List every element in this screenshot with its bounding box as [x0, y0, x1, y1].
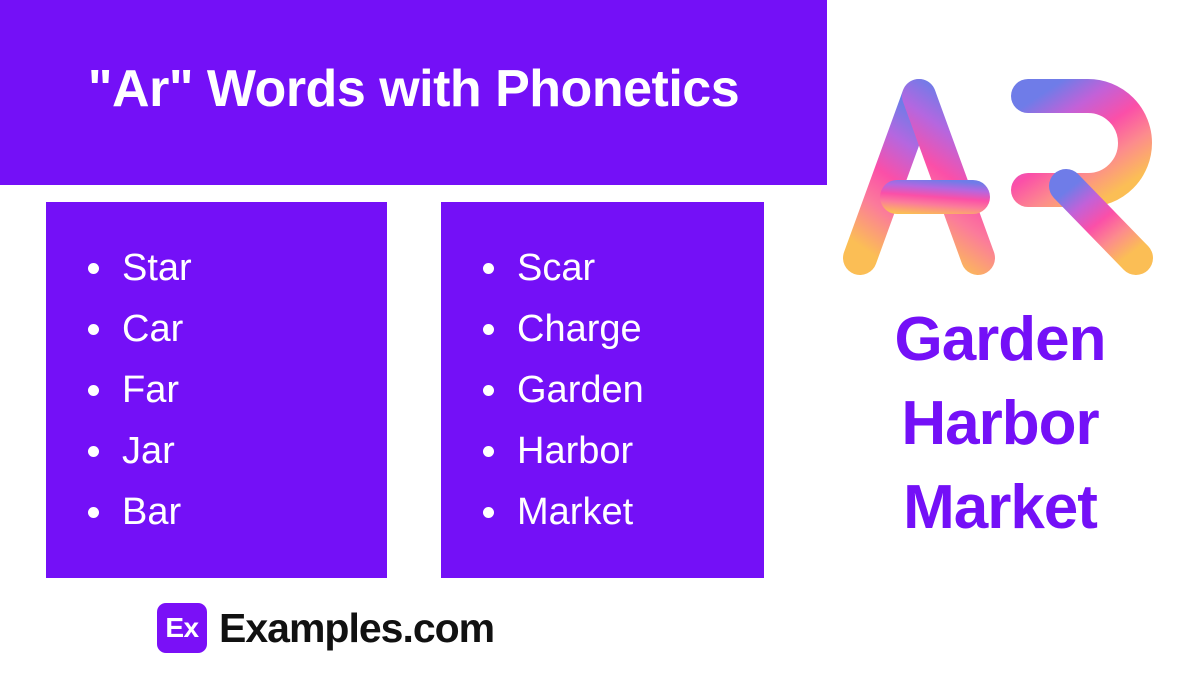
- highlight-word-list: Garden Harbor Market: [820, 298, 1180, 550]
- list-item: Scar: [483, 238, 764, 299]
- word-label: Jar: [122, 432, 175, 470]
- list-item: Market: [483, 482, 764, 543]
- list-item: Jar: [88, 421, 387, 482]
- brand-mark-label: Ex: [165, 614, 198, 642]
- word-list-box-one: Star Car Far Jar Bar: [46, 202, 387, 578]
- bullet-icon: [88, 507, 99, 518]
- list-item: Harbor: [483, 421, 764, 482]
- list-item: Bar: [88, 482, 387, 543]
- bullet-icon: [88, 324, 99, 335]
- bullet-icon: [483, 507, 494, 518]
- bullet-icon: [88, 446, 99, 457]
- highlight-word: Garden: [820, 298, 1180, 382]
- slide-canvas: "Ar" Words with Phonetics Star Car Far J…: [0, 0, 1200, 675]
- bullet-icon: [88, 263, 99, 274]
- word-label: Far: [122, 371, 179, 409]
- logo-letter-a-crossbar: [880, 180, 990, 214]
- header-banner: "Ar" Words with Phonetics: [0, 0, 827, 185]
- list-item: Charge: [483, 299, 764, 360]
- page-title: "Ar" Words with Phonetics: [88, 61, 739, 117]
- word-label: Star: [122, 249, 192, 287]
- bullet-icon: [483, 324, 494, 335]
- word-label: Scar: [517, 249, 595, 287]
- examples-mark-icon: Ex: [157, 603, 207, 653]
- logo-letter-r: [1028, 96, 1136, 258]
- word-label: Car: [122, 310, 183, 348]
- list-item: Star: [88, 238, 387, 299]
- highlight-word: Harbor: [820, 382, 1180, 466]
- bullet-icon: [483, 446, 494, 457]
- bullet-icon: [483, 263, 494, 274]
- highlight-word: Market: [820, 466, 1180, 550]
- word-label: Garden: [517, 371, 644, 409]
- word-label: Charge: [517, 310, 642, 348]
- list-item: Far: [88, 360, 387, 421]
- word-label: Market: [517, 493, 633, 531]
- bullet-icon: [88, 385, 99, 396]
- word-label: Harbor: [517, 432, 633, 470]
- word-label: Bar: [122, 493, 181, 531]
- list-item: Garden: [483, 360, 764, 421]
- brand-logo[interactable]: Ex Examples.com: [157, 603, 494, 653]
- word-list-box-two: Scar Charge Garden Harbor Market: [441, 202, 764, 578]
- list-item: Car: [88, 299, 387, 360]
- word-list-one: Star Car Far Jar Bar: [88, 238, 387, 543]
- logo-letter-a: [860, 96, 978, 258]
- bullet-icon: [483, 385, 494, 396]
- ar-logo: [840, 62, 1180, 277]
- brand-name: Examples.com: [219, 608, 494, 649]
- word-list-two: Scar Charge Garden Harbor Market: [483, 238, 764, 543]
